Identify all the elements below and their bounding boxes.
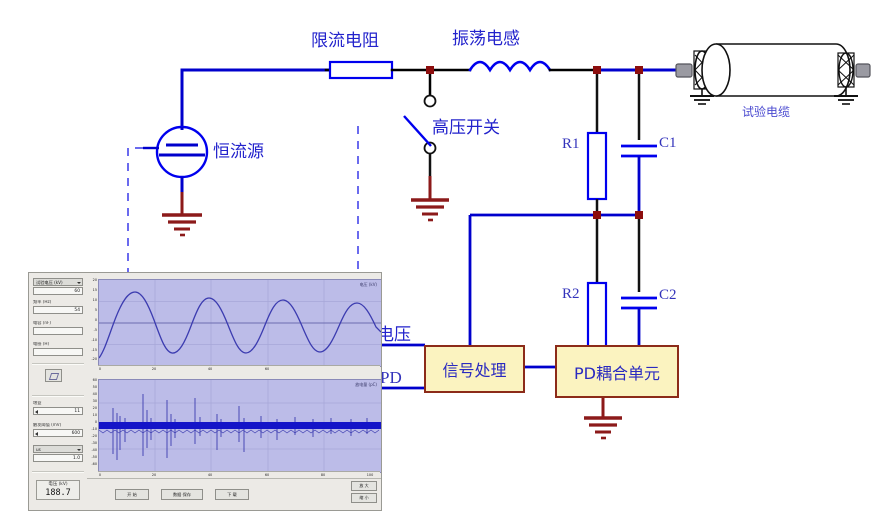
ytick: -15 xyxy=(91,349,97,352)
ytick: 0 xyxy=(95,421,97,424)
pd-noise-band xyxy=(99,422,381,429)
ytick: 0 xyxy=(95,319,97,322)
label-constant-current-source: 恒流源 xyxy=(213,144,264,161)
field-inductance[interactable] xyxy=(33,348,83,356)
resistor-r1-symbol xyxy=(588,133,606,199)
slider-group-0: 增益 11 xyxy=(33,401,83,415)
field-frequency-label: 频率 (Hz) xyxy=(33,300,83,305)
label-voltage-tap: 电压 xyxy=(377,327,411,344)
signal-processing-box[interactable]: 信号处理 xyxy=(424,345,525,393)
zoom-out-button[interactable]: 缩 小 xyxy=(351,493,377,503)
node-dot-b xyxy=(593,66,601,74)
xtick: 80 xyxy=(321,474,325,477)
field-frequency[interactable]: 54 xyxy=(33,306,83,314)
plot-area: 20 15 10 5 0 -5 -10 -15 -20 xyxy=(87,273,381,510)
label-c2: C2 xyxy=(659,288,677,303)
ytick: 10 xyxy=(93,299,97,302)
xtick: 20 xyxy=(152,474,156,477)
label-current-limiting-resistor: 限流电阻 xyxy=(311,33,379,50)
ytick: 60 xyxy=(93,379,97,382)
node-dot-mid-r xyxy=(593,211,601,219)
spin-gain-label: 增益 xyxy=(33,401,83,406)
pd-coupling-unit-ground-symbol xyxy=(584,394,622,438)
pd-waveform-svg xyxy=(99,380,381,472)
field-inductance-label: 电感 (H) xyxy=(33,342,83,347)
start-button[interactable]: 开 始 xyxy=(115,489,149,500)
ytick: -10 xyxy=(91,428,97,431)
ytick: 15 xyxy=(93,289,97,292)
measure-tool-button[interactable] xyxy=(45,369,62,382)
voltage-plot-caption: 电压 (kV) xyxy=(360,282,377,288)
software-control-panel: 试验电压 (kV) 60 频率 (Hz) 54 电容 (nF) 电感 (H) 增… xyxy=(29,273,88,510)
voltage-trace xyxy=(99,292,381,358)
ytick: -5 xyxy=(94,329,97,332)
combo-amplitude-unit[interactable]: 试验电压 (kV) xyxy=(33,278,83,286)
label-r2: R2 xyxy=(562,287,580,302)
xtick: 40 xyxy=(208,368,212,371)
spin-gain[interactable]: 11 xyxy=(33,407,83,415)
xtick: 60 xyxy=(265,368,269,371)
ytick: 40 xyxy=(93,393,97,396)
stop-button[interactable]: 下 载 xyxy=(215,489,249,500)
field-capacitance[interactable] xyxy=(33,327,83,335)
xtick: 100 xyxy=(367,474,373,477)
node-dot-mid-c xyxy=(635,211,643,219)
slider-group-1: 触发阈值 (mV) 600 xyxy=(33,423,83,437)
dashed-line-source-control xyxy=(128,148,143,290)
spin-threshold-label: 触发阈值 (mV) xyxy=(33,423,83,428)
software-button-bar: 开 始 数据 保存 下 载 xyxy=(87,478,381,511)
node-dot-c xyxy=(635,66,643,74)
voltage-plot-y-axis: 20 15 10 5 0 -5 -10 -15 -20 xyxy=(87,279,98,365)
xtick: 60 xyxy=(265,474,269,477)
cable-right-connector xyxy=(856,64,870,77)
ytick: -40 xyxy=(91,449,97,452)
save-data-button[interactable]: 数据 保存 xyxy=(161,489,203,500)
xtick: 0 xyxy=(99,368,101,371)
voltage-readout-value: 188.7 xyxy=(37,488,79,498)
field-group-0: 试验电压 (kV) 60 xyxy=(33,278,83,295)
acquisition-software-window[interactable]: 试验电压 (kV) 60 频率 (Hz) 54 电容 (nF) 电感 (H) 增… xyxy=(28,272,382,511)
voltage-waveform-svg xyxy=(99,280,381,366)
ytick: 50 xyxy=(93,386,97,389)
combo-time-unit[interactable]: us xyxy=(33,445,83,453)
voltage-readout: 电压 (kV) 188.7 xyxy=(36,480,80,500)
switch-blade xyxy=(404,116,431,146)
oscillating-inductor-symbol xyxy=(470,62,550,70)
circuit-diagram-canvas: 限流电阻 振荡电感 恒流源 高压开关 试验电缆 R1 C1 R2 C2 电压 P… xyxy=(0,0,892,515)
node-dot-a xyxy=(426,66,434,74)
ytick: -60 xyxy=(91,463,97,466)
xtick: 0 xyxy=(99,474,101,477)
label-c1: C1 xyxy=(659,136,677,151)
pd-waveform-plot[interactable]: 放电量 (pC) xyxy=(98,379,382,473)
ytick: -30 xyxy=(91,442,97,445)
field-time-unit-readout[interactable]: 1.0 xyxy=(33,454,83,462)
pd-plot-caption: 放电量 (pC) xyxy=(355,382,377,388)
ytick: 10 xyxy=(93,414,97,417)
field-capacitance-label: 电容 (nF) xyxy=(33,321,83,326)
ytick: 30 xyxy=(93,400,97,403)
ytick: -20 xyxy=(91,358,97,361)
label-r1: R1 xyxy=(562,137,580,152)
ytick: -20 xyxy=(91,435,97,438)
test-cable-symbol xyxy=(676,44,870,104)
field-group-3: 电感 (H) xyxy=(33,342,83,356)
circuit-node-dots xyxy=(426,66,643,219)
zoom-in-button[interactable]: 放 大 xyxy=(351,481,377,491)
field-group-2: 电容 (nF) xyxy=(33,321,83,335)
ytick: -50 xyxy=(91,456,97,459)
panel-divider-3 xyxy=(32,471,84,473)
unit-combo-group: us 1.0 xyxy=(33,445,83,462)
pd-plot-y-axis: 60 50 40 30 20 10 0 -10 -20 -30 -40 -50 … xyxy=(87,379,98,471)
label-high-voltage-switch: 高压开关 xyxy=(432,120,500,137)
panel-divider-2 xyxy=(32,395,84,397)
field-group-1: 频率 (Hz) 54 xyxy=(33,300,83,314)
label-pd-tap: PD xyxy=(380,369,402,386)
high-voltage-switch-symbol[interactable] xyxy=(404,96,449,221)
xtick: 20 xyxy=(152,368,156,371)
resistor-r2-symbol xyxy=(588,283,606,349)
voltage-plot-x-axis: 0 20 40 60 xyxy=(98,365,380,375)
xtick: 40 xyxy=(208,474,212,477)
ytick: 5 xyxy=(95,309,97,312)
ytick: 20 xyxy=(93,407,97,410)
label-oscillating-inductor: 振荡电感 xyxy=(452,31,520,48)
panel-divider-1 xyxy=(32,363,84,365)
ytick: 20 xyxy=(93,279,97,282)
cable-left-connector xyxy=(676,64,692,77)
constant-current-source-symbol xyxy=(143,127,207,235)
current-limiting-resistor-symbol xyxy=(330,62,392,78)
pd-coupling-unit-box[interactable]: PD耦合单元 xyxy=(555,345,679,398)
label-test-cable: 试验电缆 xyxy=(742,103,790,120)
field-amplitude-value[interactable]: 60 xyxy=(33,287,83,295)
spin-threshold[interactable]: 600 xyxy=(33,429,83,437)
ytick: -10 xyxy=(91,339,97,342)
voltage-waveform-plot[interactable]: 电压 (kV) xyxy=(98,279,382,367)
